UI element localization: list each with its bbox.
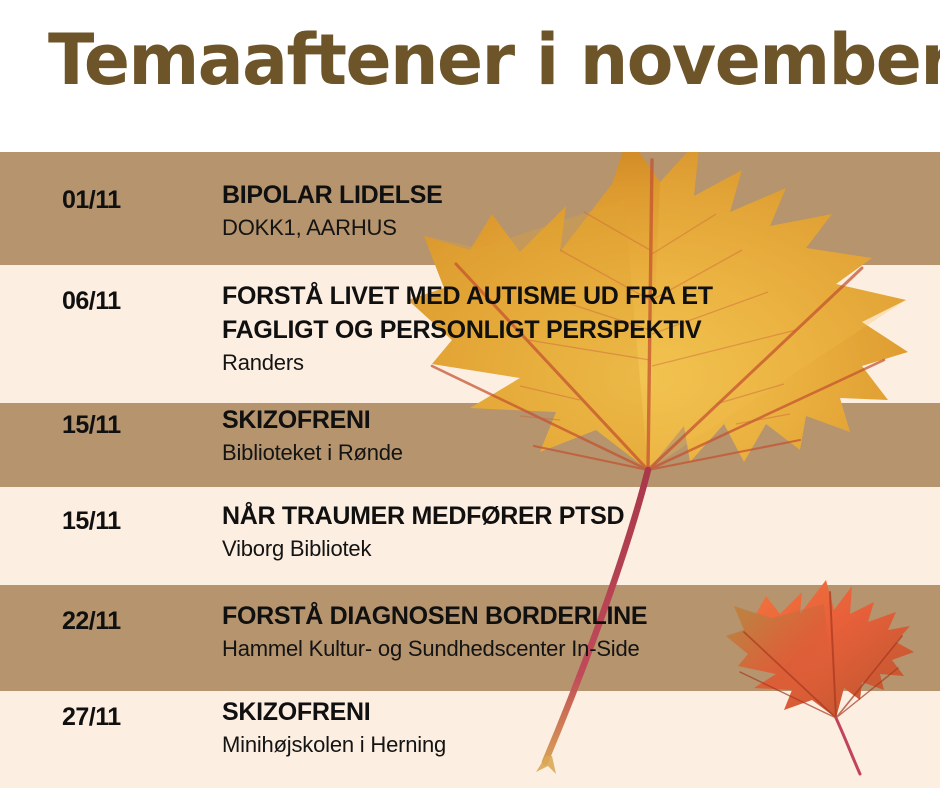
event-venue: DOKK1, AARHUS <box>222 213 922 243</box>
event-row[interactable]: 01/11BIPOLAR LIDELSEDOKK1, AARHUS <box>0 152 940 265</box>
event-row[interactable]: 06/11FORSTÅ LIVET MED AUTISME UD FRA ET … <box>0 265 940 403</box>
event-title: BIPOLAR LIDELSE <box>222 178 922 212</box>
event-row[interactable]: 22/11FORSTÅ DIAGNOSEN BORDERLINEHammel K… <box>0 585 940 691</box>
event-title: SKIZOFRENI <box>222 403 922 437</box>
event-date: 27/11 <box>62 703 212 732</box>
event-venue: Hammel Kultur- og Sundhedscenter In-Side <box>222 634 922 664</box>
poster-header: Temaaftener i november <box>0 0 940 152</box>
event-body: BIPOLAR LIDELSEDOKK1, AARHUS <box>222 178 922 243</box>
event-date: 01/11 <box>62 186 212 215</box>
event-date: 06/11 <box>62 287 212 316</box>
event-body: SKIZOFRENIBiblioteket i Rønde <box>222 403 922 468</box>
page-title: Temaaftener i november <box>48 24 882 98</box>
event-venue: Biblioteket i Rønde <box>222 438 922 468</box>
event-date: 15/11 <box>62 411 212 440</box>
event-row[interactable]: 15/11NÅR TRAUMER MEDFØRER PTSDViborg Bib… <box>0 487 940 585</box>
poster-canvas: Temaaftener i november 01/11BIPOLAR LIDE… <box>0 0 940 788</box>
event-title: NÅR TRAUMER MEDFØRER PTSD <box>222 499 922 533</box>
event-venue: Viborg Bibliotek <box>222 534 922 564</box>
event-title: FORSTÅ DIAGNOSEN BORDERLINE <box>222 599 922 633</box>
event-title: SKIZOFRENI <box>222 695 922 729</box>
event-title: FORSTÅ LIVET MED AUTISME UD FRA ET FAGLI… <box>222 279 922 347</box>
event-date: 15/11 <box>62 507 212 536</box>
event-body: FORSTÅ LIVET MED AUTISME UD FRA ET FAGLI… <box>222 279 922 378</box>
event-body: NÅR TRAUMER MEDFØRER PTSDViborg Bibliote… <box>222 499 922 564</box>
event-date: 22/11 <box>62 607 212 636</box>
event-row[interactable]: 27/11SKIZOFRENIMinihøjskolen i Herning <box>0 691 940 788</box>
event-row[interactable]: 15/11SKIZOFRENIBiblioteket i Rønde <box>0 403 940 487</box>
event-venue: Randers <box>222 348 922 378</box>
event-body: FORSTÅ DIAGNOSEN BORDERLINEHammel Kultur… <box>222 599 922 664</box>
event-body: SKIZOFRENIMinihøjskolen i Herning <box>222 695 922 760</box>
event-venue: Minihøjskolen i Herning <box>222 730 922 760</box>
